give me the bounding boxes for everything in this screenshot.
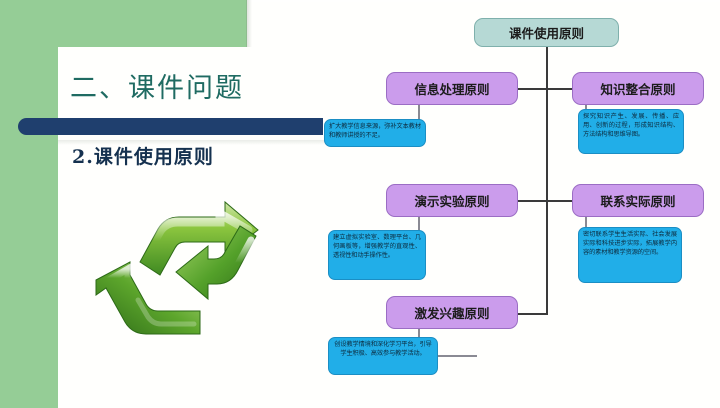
node-demo[interactable]: 演示实验原则: [386, 184, 518, 217]
page-subtitle: 2.课件使用原则: [72, 142, 214, 169]
node-knowledge[interactable]: 知识整合原则: [572, 72, 704, 105]
callout-knowledge: 探究知识产生、发展、传播、应用、创新的过程，形成知识结构、方法结构和思维导图。: [578, 109, 684, 154]
top-green-band: [58, 0, 247, 47]
left-green-stripe: [0, 0, 58, 408]
recycling-symbol-icon: [88, 196, 278, 341]
mind-map-diagram: 课件使用原则 信息处理原则 知识整合原则 演示实验原则 联系实际原则 激发兴趣原…: [320, 0, 720, 408]
callout-demo: 建立虚拟实验室、数理平台、几何画板等，增强教学的直观性、透视性和动手操作性。: [328, 230, 426, 280]
page-title: 二、课件问题: [70, 66, 244, 105]
node-interest[interactable]: 激发兴趣原则: [386, 296, 518, 329]
callout-info: 扩大教学信息来源，弥补文本教材和教师讲授的不足。: [324, 119, 426, 147]
slide-canvas: 二、课件问题 2.课件使用原则: [0, 0, 720, 408]
panel-edge-shadow: [246, 0, 252, 47]
node-root[interactable]: 课件使用原则: [474, 18, 619, 47]
leader-interest-h: [435, 355, 477, 357]
node-info[interactable]: 信息处理原则: [386, 72, 518, 105]
callout-interest: 创设教学情境和深化学习平台，引导学生积极、高效参与教学活动。: [328, 337, 438, 375]
callout-practice: 密切联系学生生活实际、社会发展实际和科技进步实际，拓展教学内容的素材和教学资源的…: [578, 227, 682, 283]
title-accent-bar-square-end: [150, 118, 323, 135]
node-practice[interactable]: 联系实际原则: [572, 184, 704, 217]
